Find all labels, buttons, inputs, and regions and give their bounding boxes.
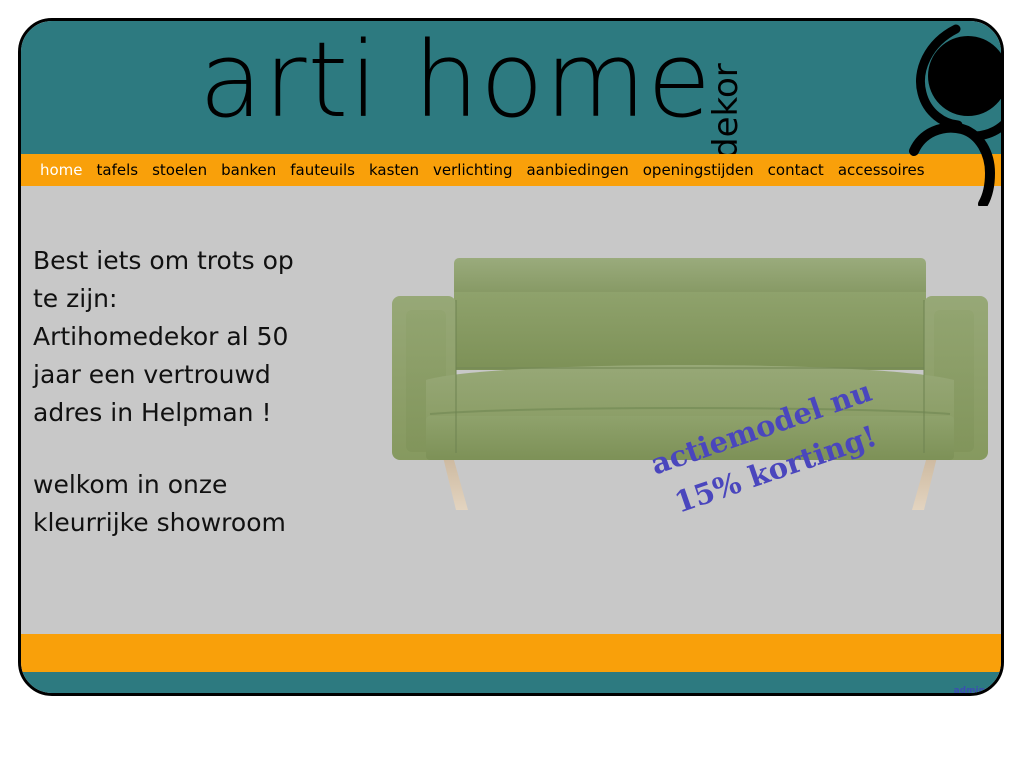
product-image-sofa[interactable] — [376, 248, 996, 518]
nav-item-verlichting[interactable]: verlichting — [426, 154, 519, 186]
main-content: Best iets om trots op te zijn: Artihomed… — [21, 186, 1001, 634]
main-navigation[interactable]: home tafels stoelen banken fauteuils kas… — [21, 154, 1001, 186]
site-header: arti home dekor — [21, 21, 1001, 154]
site-logo-primary[interactable]: arti home — [199, 21, 712, 145]
site-logo-secondary: dekor — [706, 29, 750, 154]
nav-item-kasten[interactable]: kasten — [362, 154, 426, 186]
intro-line-7: kleurrijke showroom — [33, 504, 353, 542]
intro-text-block: Best iets om trots op te zijn: Artihomed… — [33, 242, 353, 542]
intro-line-5: adres in Helpman ! — [33, 394, 353, 432]
website-page: arti home dekor home tafels stoelen bank… — [18, 18, 1004, 696]
intro-line-4: jaar een vertrouwd — [33, 356, 353, 394]
intro-line-2: te zijn: — [33, 280, 353, 318]
nav-item-openingstijden[interactable]: openingstijden — [636, 154, 761, 186]
nav-item-accessoires[interactable]: accessoires — [831, 154, 932, 186]
intro-line-3: Artihomedekor al 50 — [33, 318, 353, 356]
nav-item-banken[interactable]: banken — [214, 154, 283, 186]
intro-line-6: welkom in onze — [33, 466, 353, 504]
nav-item-fauteuils[interactable]: fauteuils — [283, 154, 362, 186]
intro-line-1: Best iets om trots op — [33, 242, 353, 280]
nav-item-stoelen[interactable]: stoelen — [145, 154, 214, 186]
footer-orange-bar — [21, 634, 1001, 672]
nav-item-tafels[interactable]: tafels — [90, 154, 146, 186]
footer-teal-bar: admin — [21, 672, 1001, 696]
admin-link[interactable]: admin — [954, 686, 985, 696]
sofa-illustration — [376, 248, 996, 518]
nav-item-contact[interactable]: contact — [761, 154, 831, 186]
nav-item-home[interactable]: home — [33, 154, 90, 186]
nav-item-aanbiedingen[interactable]: aanbiedingen — [519, 154, 635, 186]
nav-list: home tafels stoelen banken fauteuils kas… — [21, 154, 1001, 186]
